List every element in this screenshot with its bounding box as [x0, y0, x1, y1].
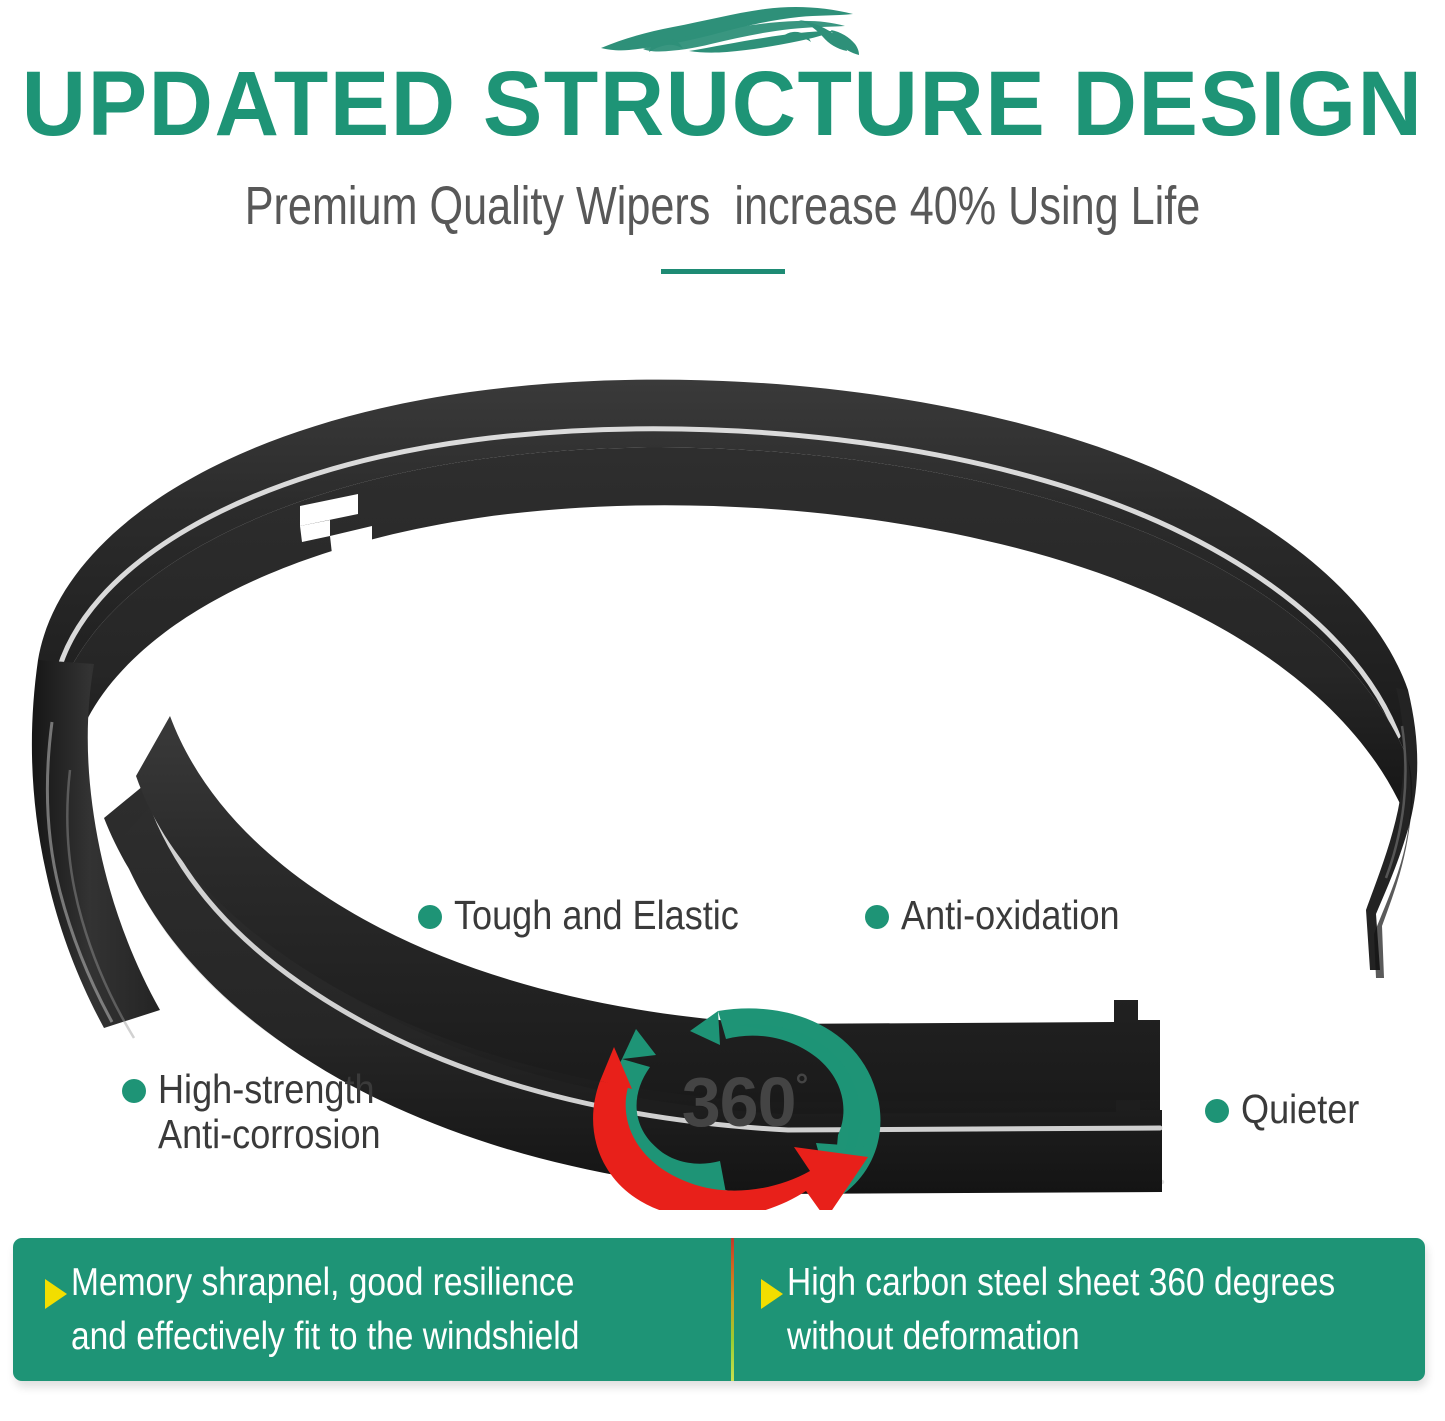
bullet-dot-icon: [122, 1079, 146, 1103]
callout-label: Quieter: [1241, 1087, 1359, 1132]
feature-text: High carbon steel sheet 360 degrees with…: [787, 1256, 1335, 1364]
header-banner: UPDATED STRUCTURE DESIGN Premium Quality…: [0, 0, 1445, 300]
page-subtitle: Premium Quality Wipers increase 40% Usin…: [145, 176, 1301, 236]
badge-360-degrees: 360°: [570, 985, 920, 1210]
callout-anti-oxidation: Anti-oxidation: [865, 893, 1149, 938]
feature-text: Memory shrapnel, good resilience and eff…: [71, 1256, 579, 1364]
feature-box-memory-shrapnel: Memory shrapnel, good resilience and eff…: [13, 1238, 731, 1381]
bullet-dot-icon: [865, 905, 889, 929]
play-triangle-icon: [45, 1279, 67, 1309]
page-title: UPDATED STRUCTURE DESIGN: [22, 56, 1424, 152]
callout-quieter: Quieter: [1205, 1087, 1375, 1132]
callout-high-strength-anti-corrosion: High-strength Anti-corrosion: [122, 1067, 411, 1157]
degree-symbol: °: [796, 1067, 809, 1103]
feature-highlight-bar: Memory shrapnel, good resilience and eff…: [13, 1238, 1425, 1381]
callout-label: Tough and Elastic: [454, 893, 739, 938]
car-silhouette-icon: [585, 4, 870, 60]
feature-box-high-carbon-steel: High carbon steel sheet 360 degrees with…: [731, 1238, 1425, 1381]
badge-360-label: 360°: [570, 1048, 920, 1139]
product-illustration-area: 360° Tough and Elastic Anti-oxidation Hi…: [0, 330, 1445, 1220]
badge-number: 360: [682, 1063, 796, 1141]
feature-divider-line: [731, 1238, 734, 1381]
play-triangle-icon: [761, 1279, 783, 1309]
callout-label: High-strength Anti-corrosion: [158, 1067, 381, 1157]
bullet-dot-icon: [418, 905, 442, 929]
callout-label: Anti-oxidation: [901, 893, 1120, 938]
title-underline-divider: [661, 269, 785, 274]
bullet-dot-icon: [1205, 1099, 1229, 1123]
callout-tough-and-elastic: Tough and Elastic: [418, 893, 778, 938]
